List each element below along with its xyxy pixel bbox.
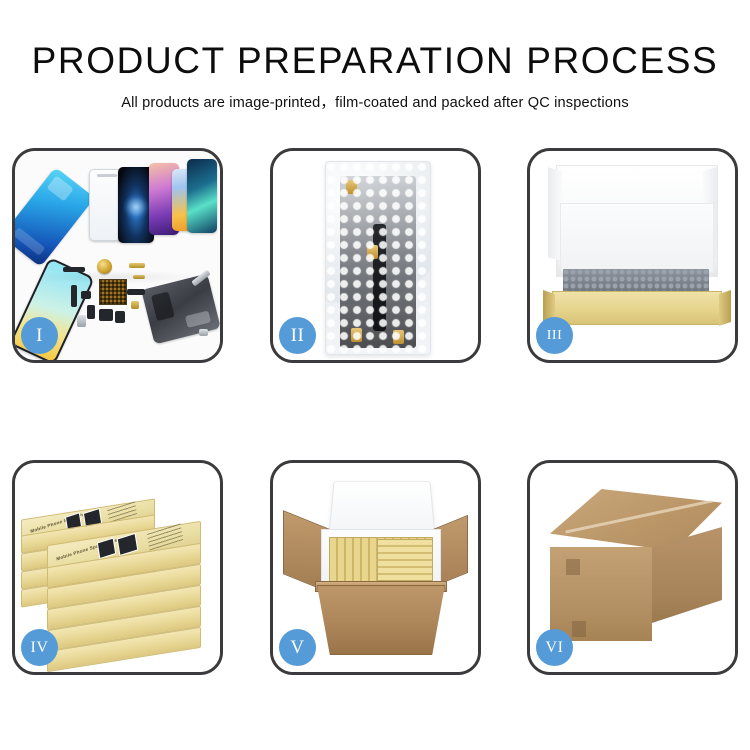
step-badge-1: I bbox=[21, 317, 58, 354]
small-part-6 bbox=[87, 305, 95, 319]
chip-grid-part bbox=[99, 279, 127, 305]
process-step-grid: I II bbox=[12, 148, 738, 674]
kraft-box-base bbox=[552, 291, 722, 325]
product-parts-photo: I bbox=[15, 151, 220, 360]
small-part-9 bbox=[115, 311, 125, 323]
carton-tape-tab-lower bbox=[572, 621, 586, 637]
header: PRODUCT PREPARATION PROCESS All products… bbox=[0, 0, 750, 112]
small-part-4 bbox=[71, 285, 77, 307]
stacked-boxes-photo: Mobile Phone Spare Parts Mobile Phone Sp… bbox=[15, 463, 220, 672]
bubble-wrap-bag bbox=[325, 161, 431, 355]
process-step-card-4: Mobile Phone Spare Parts Mobile Phone Sp… bbox=[12, 460, 223, 675]
carton-tape-tab-upper bbox=[566, 559, 580, 575]
small-part-5 bbox=[81, 291, 91, 299]
carton-body bbox=[317, 585, 445, 655]
page-subtitle: All products are image-printed，film-coat… bbox=[0, 81, 750, 112]
white-foam-sheet bbox=[560, 203, 714, 273]
grey-bubble-pad bbox=[563, 269, 709, 293]
foam-lined-box-photo: III bbox=[530, 151, 735, 360]
small-part-2 bbox=[129, 263, 145, 268]
page-title: PRODUCT PREPARATION PROCESS bbox=[0, 0, 750, 81]
bubble-wrapped-screen-photo: II bbox=[273, 151, 478, 360]
speaker-coil-part bbox=[97, 259, 112, 274]
small-part-1 bbox=[63, 267, 85, 272]
step-badge-2: II bbox=[279, 317, 316, 354]
small-part-3 bbox=[133, 275, 145, 279]
step-badge-6: VI bbox=[536, 629, 573, 666]
small-part-8 bbox=[99, 309, 113, 321]
bubble-texture bbox=[326, 162, 430, 354]
styrofoam-carton-photo: V bbox=[273, 463, 478, 672]
phone-back-housing bbox=[141, 274, 220, 345]
small-part-7 bbox=[77, 315, 86, 327]
step-badge-4: IV bbox=[21, 629, 58, 666]
process-step-card-3: III bbox=[527, 148, 738, 363]
product-preparation-process-page: PRODUCT PREPARATION PROCESS All products… bbox=[0, 0, 750, 750]
process-step-card-6: VI bbox=[527, 460, 738, 675]
screw-part-1 bbox=[199, 329, 208, 336]
step-badge-3: III bbox=[536, 317, 573, 354]
step-badge-5: V bbox=[279, 629, 316, 666]
sealed-carton-photo: VI bbox=[530, 463, 735, 672]
yellow-boxes-row-2 bbox=[377, 539, 433, 581]
blue-back-glass bbox=[15, 167, 95, 267]
teal-gradient-phone bbox=[187, 159, 217, 233]
process-step-card-1: I bbox=[12, 148, 223, 363]
process-step-card-5: V bbox=[270, 460, 481, 675]
small-part-11 bbox=[131, 301, 139, 309]
process-step-card-2: II bbox=[270, 148, 481, 363]
small-part-10 bbox=[127, 289, 145, 295]
